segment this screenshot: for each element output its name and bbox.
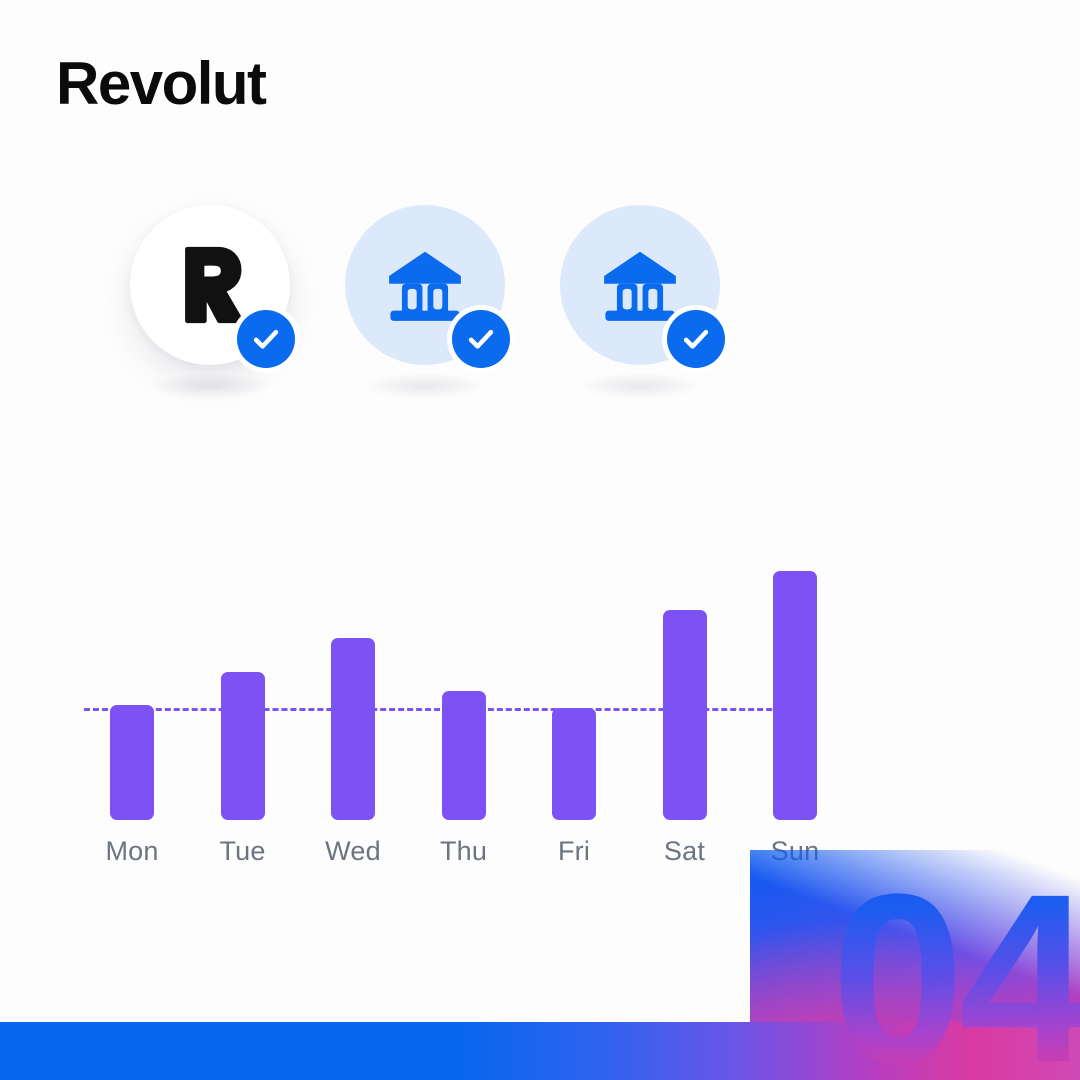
check-icon <box>464 322 498 356</box>
chip-ground-shadow <box>149 373 271 399</box>
chart-bar-tue[interactable] <box>221 540 265 820</box>
bar-fill <box>773 571 817 820</box>
chart-x-axis-labels: MonTueWedThuFriSatSun <box>110 836 817 876</box>
slide-canvas: Revolut <box>0 0 1080 1080</box>
page-number: 04 <box>831 858 1080 1080</box>
check-icon <box>249 322 283 356</box>
x-axis-label-fri: Fri <box>530 836 618 867</box>
account-chip-revolut[interactable] <box>130 205 290 365</box>
verified-badge <box>662 305 730 373</box>
chip-ground-shadow <box>579 373 701 399</box>
bar-fill <box>221 672 265 820</box>
chart-bar-mon[interactable] <box>110 540 154 820</box>
account-chip-bank-1[interactable] <box>345 205 505 365</box>
weekly-spending-chart: MonTueWedThuFriSatSun <box>0 540 1080 890</box>
bar-fill <box>442 691 486 820</box>
linked-accounts-row <box>130 205 720 365</box>
x-axis-label-sat: Sat <box>641 836 729 867</box>
check-icon <box>679 322 713 356</box>
account-chip-bank-2[interactable] <box>560 205 720 365</box>
chip-ground-shadow <box>364 373 486 399</box>
bar-fill <box>331 638 375 820</box>
chart-bar-thu[interactable] <box>442 540 486 820</box>
bar-fill <box>663 610 707 820</box>
x-axis-label-mon: Mon <box>88 836 176 867</box>
x-axis-label-thu: Thu <box>420 836 508 867</box>
bar-fill <box>110 705 154 820</box>
chart-plot-area <box>110 540 817 820</box>
bank-icon <box>384 244 466 326</box>
chart-bar-sat[interactable] <box>663 540 707 820</box>
verified-badge <box>447 305 515 373</box>
x-axis-label-tue: Tue <box>199 836 287 867</box>
chart-bar-sun[interactable] <box>773 540 817 820</box>
chart-bar-fri[interactable] <box>552 540 596 820</box>
x-axis-label-wed: Wed <box>309 836 397 867</box>
verified-badge <box>232 305 300 373</box>
bank-icon <box>599 244 681 326</box>
x-axis-label-sun: Sun <box>751 836 839 867</box>
chart-bar-wed[interactable] <box>331 540 375 820</box>
brand-wordmark: Revolut <box>56 54 266 114</box>
bar-fill <box>552 708 596 820</box>
